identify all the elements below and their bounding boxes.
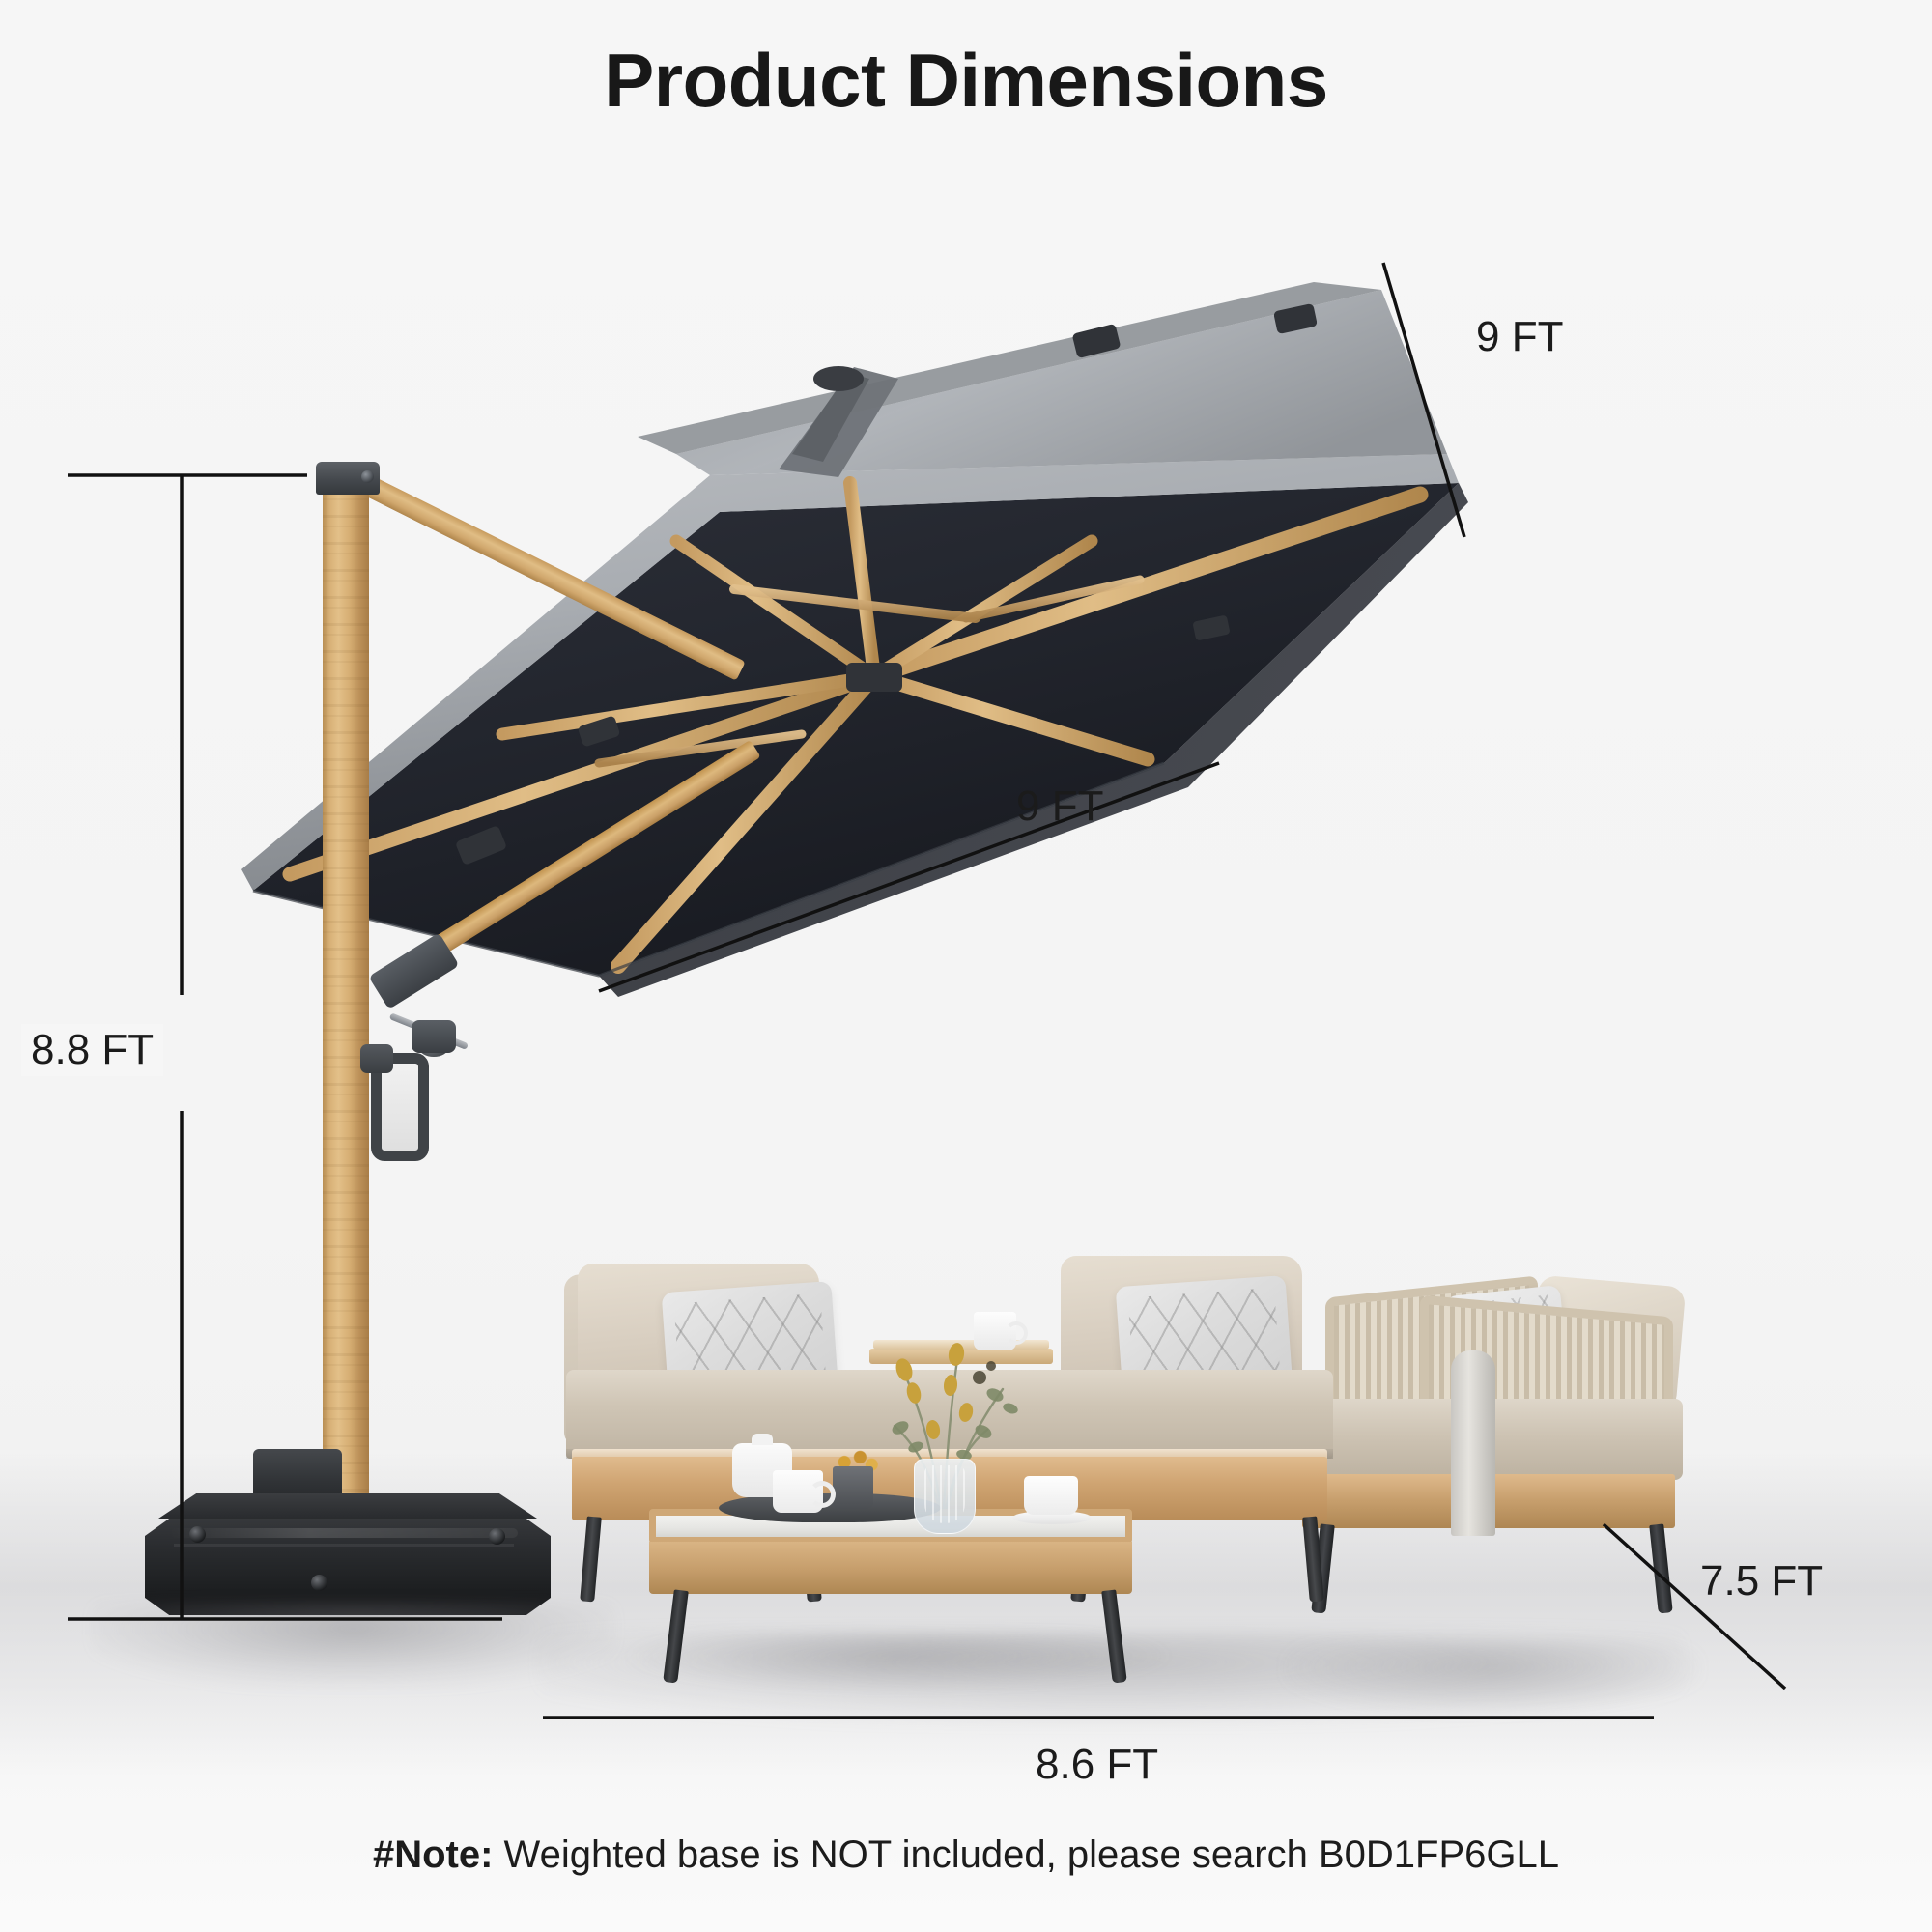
footnote-prefix: #Note:	[373, 1833, 493, 1876]
dimension-label-height: 8.8 FT	[21, 1024, 163, 1076]
dimension-line-canopy-right	[1383, 263, 1464, 537]
infographic-canvas: Product Dimensions	[0, 0, 1932, 1932]
footnote: #Note: Weighted base is NOT included, pl…	[0, 1833, 1932, 1877]
dimension-label-canopy-right: 9 FT	[1466, 311, 1573, 363]
footnote-text: Weighted base is NOT included, please se…	[504, 1833, 1559, 1876]
dimension-label-width: 8.6 FT	[1026, 1739, 1168, 1791]
dimension-lines	[0, 0, 1932, 1932]
dimension-label-canopy-front: 9 FT	[1007, 781, 1113, 833]
dimension-label-depth: 7.5 FT	[1690, 1555, 1833, 1607]
dimension-line-canopy-front	[599, 763, 1219, 991]
